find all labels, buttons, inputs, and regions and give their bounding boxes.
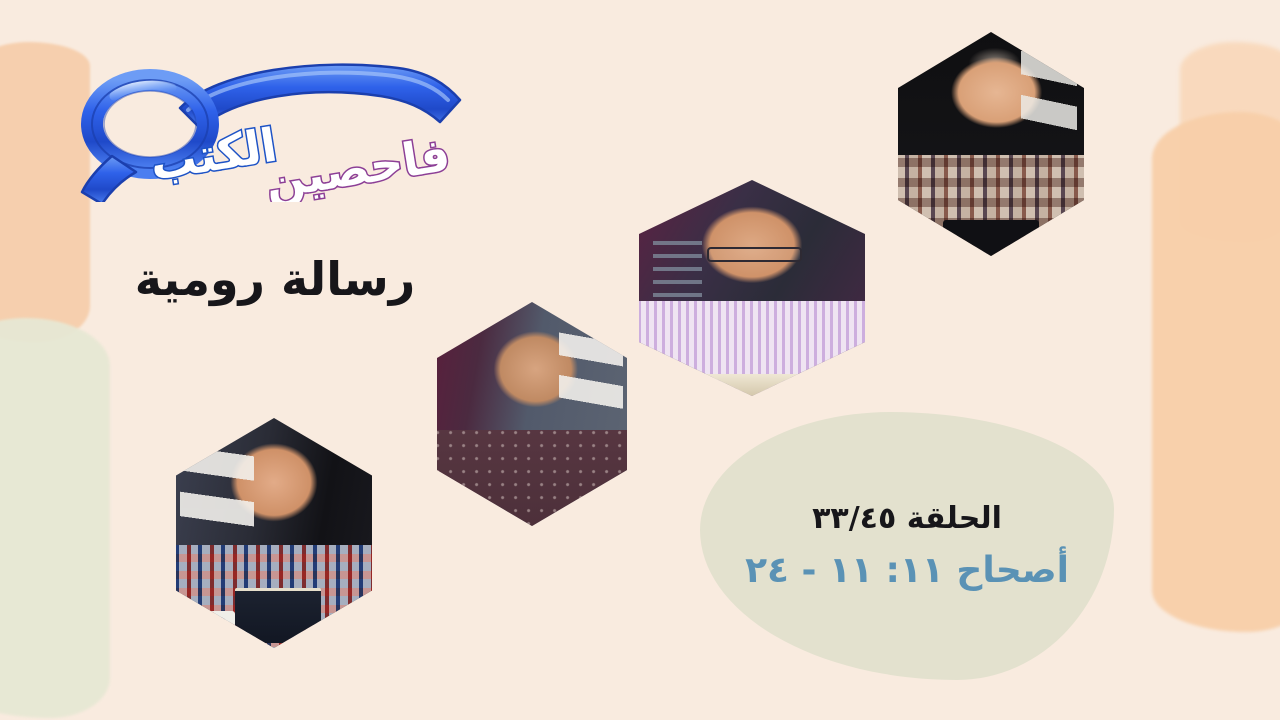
- logo-word-bottom: الكتب: [146, 118, 280, 191]
- guest-photo-center: [639, 180, 865, 396]
- guest-shirt: [437, 430, 627, 526]
- brush-stroke-peach-right: [1152, 112, 1280, 632]
- guest-photo-image: [898, 32, 1084, 256]
- episode-info: الحلقة ٣٣/٤٥ أصحاح ١١: ١١ - ٢٤: [700, 412, 1114, 680]
- brush-stroke-sage-left: [0, 318, 110, 718]
- studio-monitor: [943, 220, 1040, 256]
- guest-photo-image: [639, 180, 865, 396]
- guest-photo-image: [437, 302, 627, 526]
- guest-photo-image: [176, 418, 372, 648]
- open-book: [680, 374, 829, 396]
- glasses-icon: [707, 247, 802, 262]
- episode-number-label: الحلقة ٣٣/٤٥: [812, 501, 1002, 536]
- program-logo: الكتب فاحصين: [68, 52, 468, 202]
- guest-photo-middle-left: [437, 302, 627, 526]
- studio-rack: [653, 236, 703, 309]
- episode-passage-label: أصحاح ١١: ١١ - ٢٤: [745, 550, 1069, 591]
- logo-word-top: فاحصين: [261, 127, 453, 202]
- coffee-mug: [192, 611, 235, 648]
- series-title: رسالة رومية: [110, 252, 440, 306]
- guest-photo-top-right: [898, 32, 1084, 256]
- guest-photo-bottom-left: [176, 418, 372, 648]
- episode-title-card: الكتب فاحصين رسالة رومية: [0, 0, 1280, 720]
- brush-stroke-peach-right-top: [1180, 42, 1280, 242]
- bible-book: [235, 588, 321, 643]
